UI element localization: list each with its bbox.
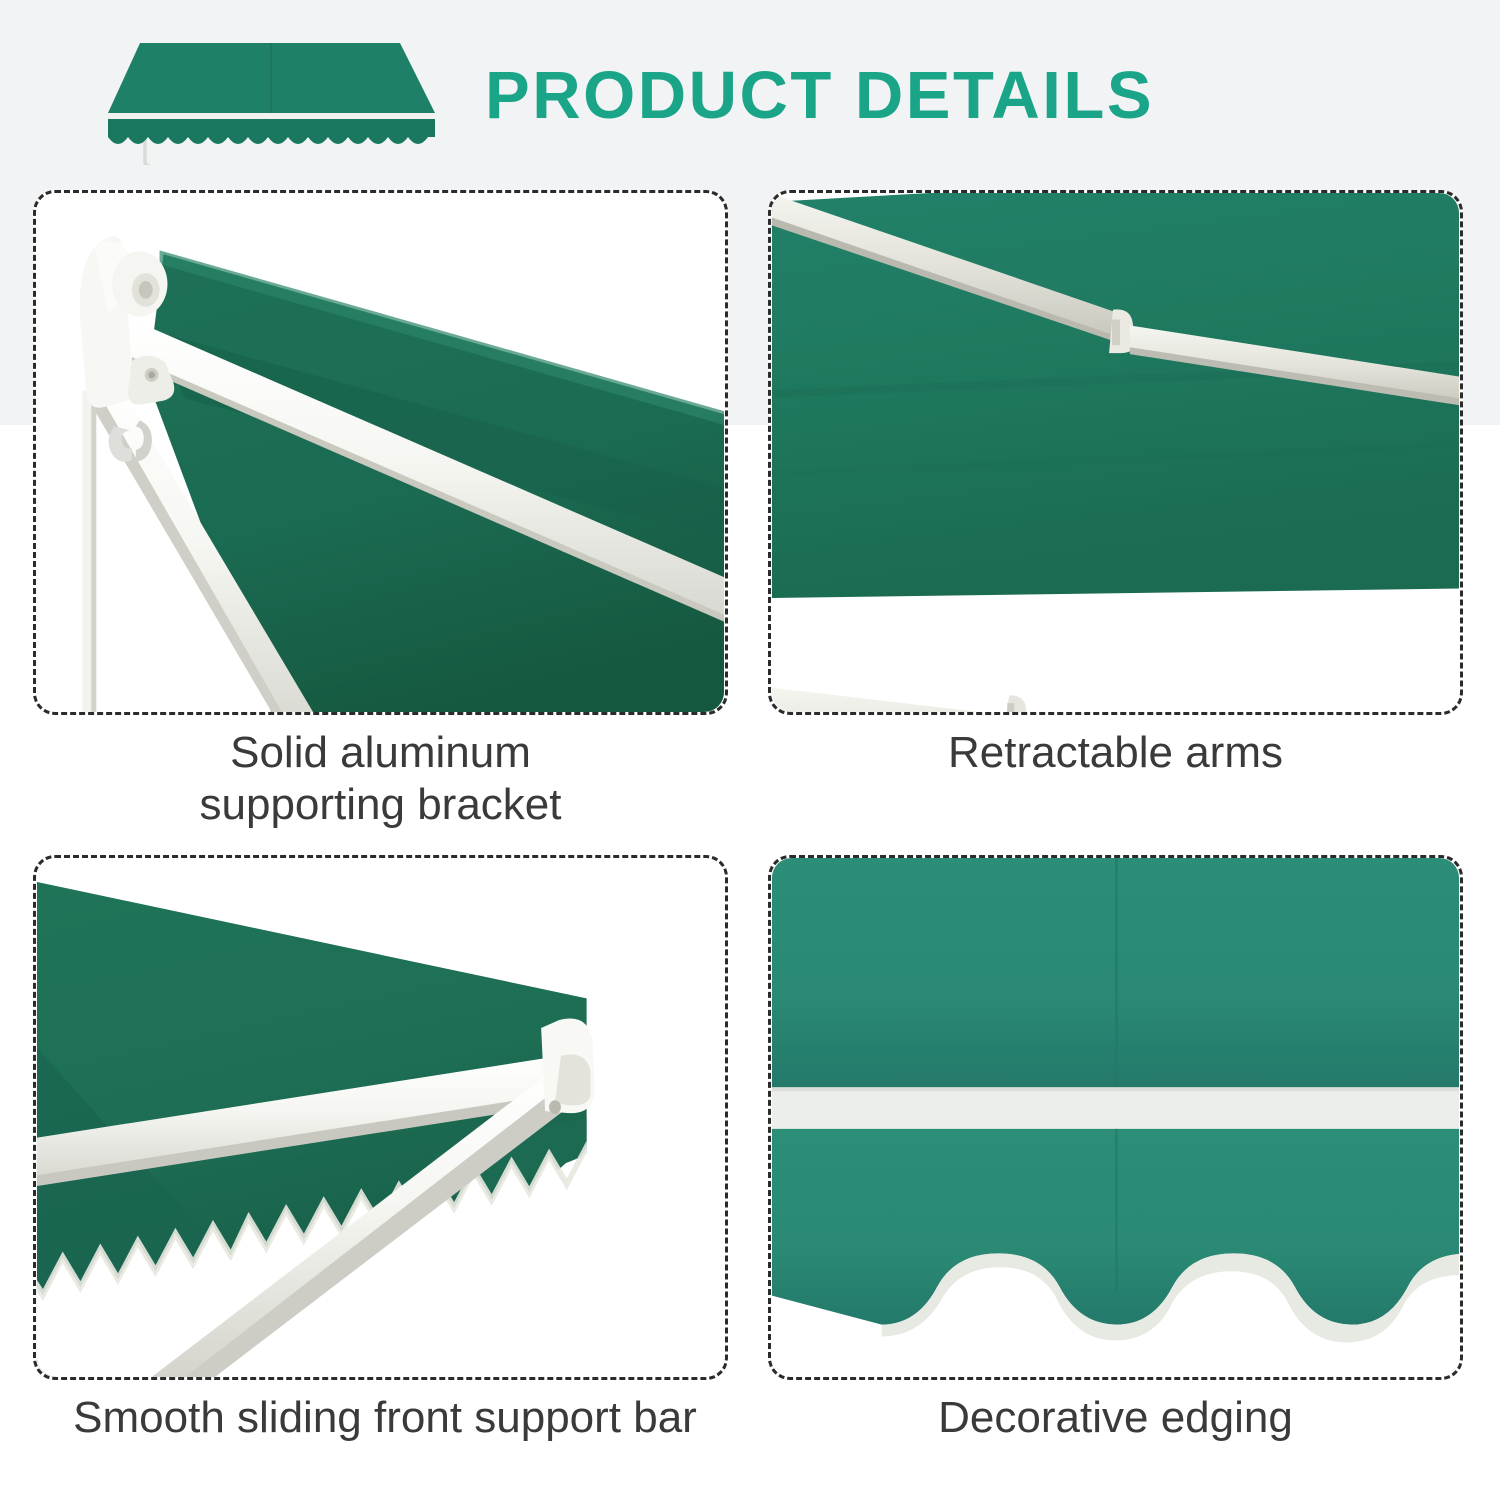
caption-line: supporting bracket (33, 779, 728, 831)
caption-line: Decorative edging (768, 1392, 1463, 1444)
product-details-infographic: PRODUCT DETAILS (0, 0, 1500, 1500)
caption-bracket: Solid aluminum supporting bracket (33, 727, 728, 831)
caption-front-bar: Smooth sliding front support bar (20, 1392, 750, 1444)
awning-icon (105, 25, 435, 165)
caption-line: Solid aluminum (33, 727, 728, 779)
caption-arms: Retractable arms (768, 727, 1463, 779)
caption-line: Retractable arms (768, 727, 1463, 779)
awning-bracket-photo (33, 190, 728, 715)
panel-bracket[interactable] (33, 190, 728, 715)
retractable-arms-photo (768, 190, 1463, 715)
header: PRODUCT DETAILS (0, 0, 1500, 190)
panel-arms[interactable] (768, 190, 1463, 715)
panel-edging[interactable] (768, 855, 1463, 1380)
page-title: PRODUCT DETAILS (485, 57, 1154, 134)
caption-edging: Decorative edging (768, 1392, 1463, 1444)
panel-grid: Solid aluminum supporting bracket (0, 0, 1500, 1500)
decorative-edging-photo (768, 855, 1463, 1380)
panel-front-bar[interactable] (33, 855, 728, 1380)
caption-line: Smooth sliding front support bar (20, 1392, 750, 1444)
front-support-bar-photo (33, 855, 728, 1380)
